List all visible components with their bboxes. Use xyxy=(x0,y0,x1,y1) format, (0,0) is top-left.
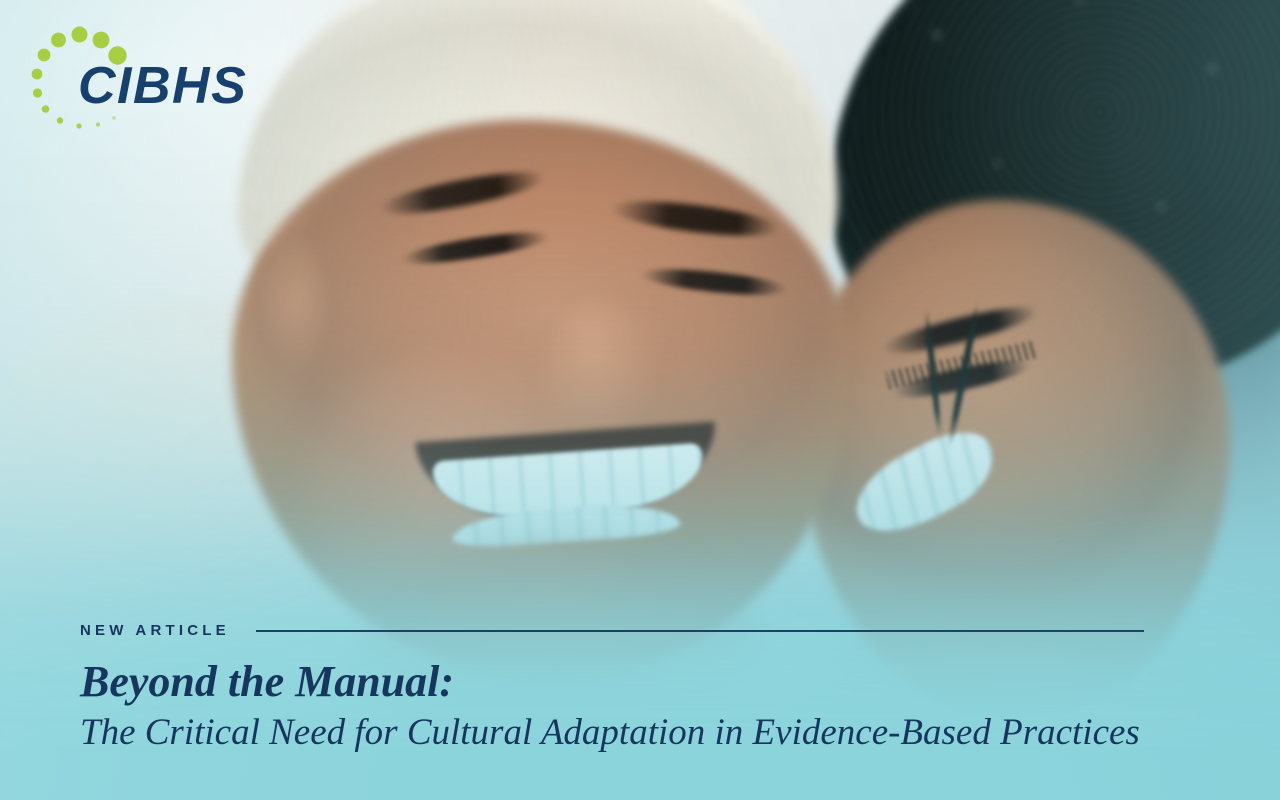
headline-block: Beyond the Manual: The Critical Need for… xyxy=(80,658,1200,753)
eyebrow-row: NEW ARTICLE xyxy=(80,622,1144,639)
article-hero-banner: CIBHS NEW ARTICLE Beyond the Manual: The… xyxy=(0,0,1280,800)
headline-primary: Beyond the Manual: xyxy=(80,658,1200,706)
cibhs-wordmark: CIBHS xyxy=(78,60,247,112)
headline-secondary: The Critical Need for Cultural Adaptatio… xyxy=(80,712,1200,753)
cibhs-logo[interactable]: CIBHS xyxy=(24,22,234,140)
eyebrow-divider-rule xyxy=(256,630,1144,632)
eyebrow-label: NEW ARTICLE xyxy=(80,622,230,639)
